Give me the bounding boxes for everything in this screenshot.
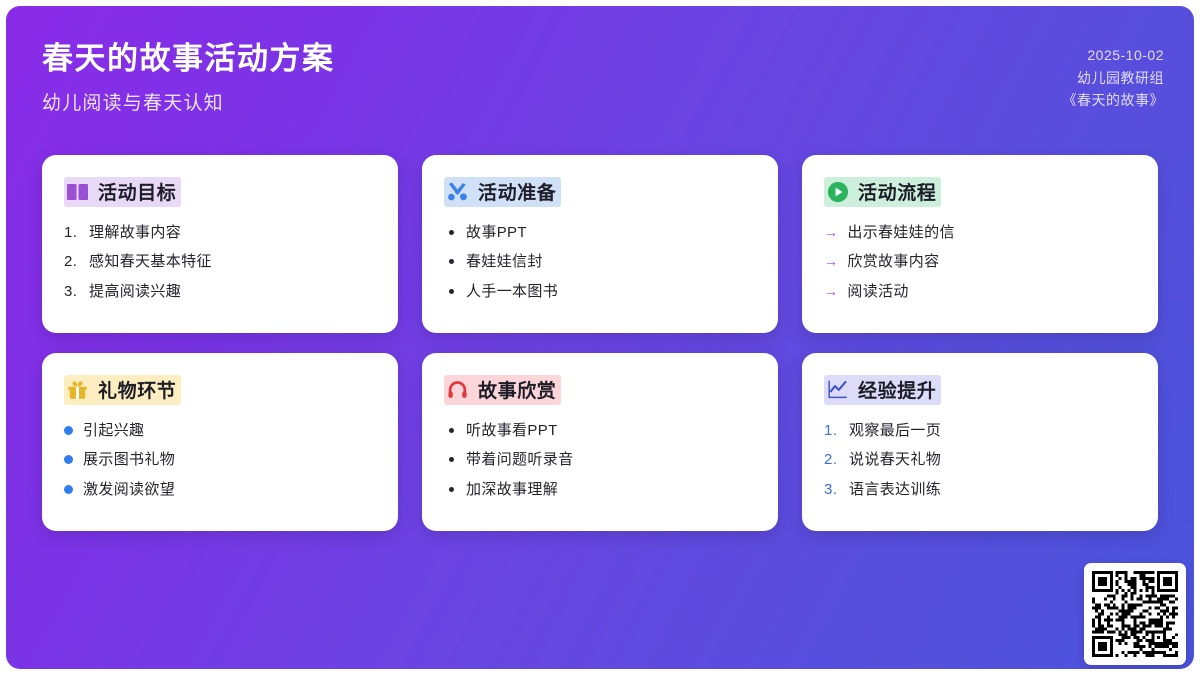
card-title: 礼物环节 <box>98 376 176 403</box>
list-marker: → <box>824 253 838 269</box>
card-header: 活动准备 <box>444 177 756 207</box>
list-marker: 1. <box>824 422 840 439</box>
list-item: 人手一本图书 <box>444 283 756 300</box>
list-item-text: 展示图书礼物 <box>83 451 175 468</box>
card-list: 听故事看PPT带着问题听录音加深故事理解 <box>444 422 756 498</box>
list-marker: 3. <box>824 481 840 498</box>
list-item: 3.提高阅读兴趣 <box>64 283 376 300</box>
list-marker: 3. <box>64 283 80 300</box>
qr-code[interactable] <box>1084 563 1186 665</box>
list-item-text: 人手一本图书 <box>466 283 558 300</box>
list-marker: 1. <box>64 224 80 241</box>
list-marker: → <box>824 224 838 240</box>
card-title-highlight: 活动流程 <box>824 177 941 207</box>
card-list: 1.观察最后一页2.说说春天礼物3.语言表达训练 <box>824 422 1136 498</box>
card-list: 引起兴趣展示图书礼物激发阅读欲望 <box>64 422 376 498</box>
list-item-text: 带着问题听录音 <box>466 451 573 468</box>
list-item: 春娃娃信封 <box>444 253 756 270</box>
card-list: →出示春娃娃的信→欣赏故事内容→阅读活动 <box>824 224 1136 300</box>
list-item: 带着问题听录音 <box>444 451 756 468</box>
content-card: 经验提升1.观察最后一页2.说说春天礼物3.语言表达训练 <box>802 353 1158 531</box>
content-card: 活动目标1.理解故事内容2.感知春天基本特征3.提高阅读兴趣 <box>42 155 398 333</box>
list-item-text: 春娃娃信封 <box>466 253 543 270</box>
play-circle-icon <box>826 180 849 203</box>
list-marker <box>64 455 73 464</box>
headphones-icon <box>446 378 469 401</box>
list-item-text: 阅读活动 <box>847 283 908 300</box>
list-marker: 2. <box>824 451 840 468</box>
list-marker <box>449 487 454 492</box>
line-chart-icon <box>826 378 849 401</box>
list-item: →出示春娃娃的信 <box>824 224 1136 241</box>
card-grid: 活动目标1.理解故事内容2.感知春天基本特征3.提高阅读兴趣活动准备故事PPT春… <box>42 155 1158 531</box>
list-item-text: 引起兴趣 <box>83 422 144 439</box>
content-card: 活动流程→出示春娃娃的信→欣赏故事内容→阅读活动 <box>802 155 1158 333</box>
list-item: 听故事看PPT <box>444 422 756 439</box>
list-marker <box>449 259 454 264</box>
list-item-text: 加深故事理解 <box>466 481 558 498</box>
presentation-slide: 春天的故事活动方案 幼儿阅读与春天认知 2025-10-02 幼儿园教研组 《春… <box>6 6 1194 669</box>
list-marker <box>449 289 454 294</box>
list-item: 2.感知春天基本特征 <box>64 253 376 270</box>
header-meta: 2025-10-02 幼儿园教研组 《春天的故事》 <box>1063 36 1165 112</box>
slide-header: 春天的故事活动方案 幼儿阅读与春天认知 2025-10-02 幼儿园教研组 《春… <box>42 36 1164 115</box>
card-title: 经验提升 <box>858 376 936 403</box>
list-marker <box>64 426 73 435</box>
card-title: 活动流程 <box>858 178 936 205</box>
content-card: 礼物环节引起兴趣展示图书礼物激发阅读欲望 <box>42 353 398 531</box>
list-item: 引起兴趣 <box>64 422 376 439</box>
open-book-icon <box>66 180 89 203</box>
list-item-text: 出示春娃娃的信 <box>847 224 954 241</box>
list-item-text: 理解故事内容 <box>89 224 181 241</box>
card-title: 故事欣赏 <box>478 376 556 403</box>
card-list: 故事PPT春娃娃信封人手一本图书 <box>444 224 756 300</box>
list-item: 激发阅读欲望 <box>64 481 376 498</box>
list-item: 故事PPT <box>444 224 756 241</box>
content-card: 故事欣赏听故事看PPT带着问题听录音加深故事理解 <box>422 353 778 531</box>
list-item-text: 欣赏故事内容 <box>847 253 939 270</box>
card-header: 活动流程 <box>824 177 1136 207</box>
list-item-text: 观察最后一页 <box>849 422 941 439</box>
list-item-text: 感知春天基本特征 <box>89 253 212 270</box>
content-card: 活动准备故事PPT春娃娃信封人手一本图书 <box>422 155 778 333</box>
list-marker <box>64 485 73 494</box>
list-marker: 2. <box>64 253 80 270</box>
card-header: 活动目标 <box>64 177 376 207</box>
list-marker <box>449 428 454 433</box>
card-title-highlight: 活动目标 <box>64 177 181 207</box>
list-item: →阅读活动 <box>824 283 1136 300</box>
list-item: 1.观察最后一页 <box>824 422 1136 439</box>
list-item: 3.语言表达训练 <box>824 481 1136 498</box>
list-item-text: 故事PPT <box>466 224 527 241</box>
list-item: 展示图书礼物 <box>64 451 376 468</box>
list-item: 2.说说春天礼物 <box>824 451 1136 468</box>
list-item: →欣赏故事内容 <box>824 253 1136 270</box>
card-title-highlight: 故事欣赏 <box>444 375 561 405</box>
qr-code-image <box>1092 571 1178 657</box>
card-header: 故事欣赏 <box>444 375 756 405</box>
list-item-text: 语言表达训练 <box>849 481 941 498</box>
list-item: 加深故事理解 <box>444 481 756 498</box>
page-title: 春天的故事活动方案 <box>42 40 335 79</box>
card-title-highlight: 礼物环节 <box>64 375 181 405</box>
list-item-text: 说说春天礼物 <box>849 451 941 468</box>
meta-organization: 幼儿园教研组 <box>1063 67 1165 90</box>
meta-source: 《春天的故事》 <box>1063 89 1165 112</box>
meta-date: 2025-10-02 <box>1063 44 1165 67</box>
title-block: 春天的故事活动方案 幼儿阅读与春天认知 <box>42 36 335 115</box>
card-header: 礼物环节 <box>64 375 376 405</box>
list-marker: → <box>824 283 838 299</box>
card-title-highlight: 活动准备 <box>444 177 561 207</box>
card-title: 活动准备 <box>478 178 556 205</box>
card-list: 1.理解故事内容2.感知春天基本特征3.提高阅读兴趣 <box>64 224 376 300</box>
page-subtitle: 幼儿阅读与春天认知 <box>42 88 335 115</box>
list-marker <box>449 457 454 462</box>
list-item: 1.理解故事内容 <box>64 224 376 241</box>
gift-icon <box>66 378 89 401</box>
list-item-text: 激发阅读欲望 <box>83 481 175 498</box>
list-item-text: 听故事看PPT <box>466 422 558 439</box>
card-header: 经验提升 <box>824 375 1136 405</box>
hammer-and-wrench-icon <box>446 180 469 203</box>
list-item-text: 提高阅读兴趣 <box>89 283 181 300</box>
card-title-highlight: 经验提升 <box>824 375 941 405</box>
list-marker <box>449 230 454 235</box>
card-title: 活动目标 <box>98 178 176 205</box>
